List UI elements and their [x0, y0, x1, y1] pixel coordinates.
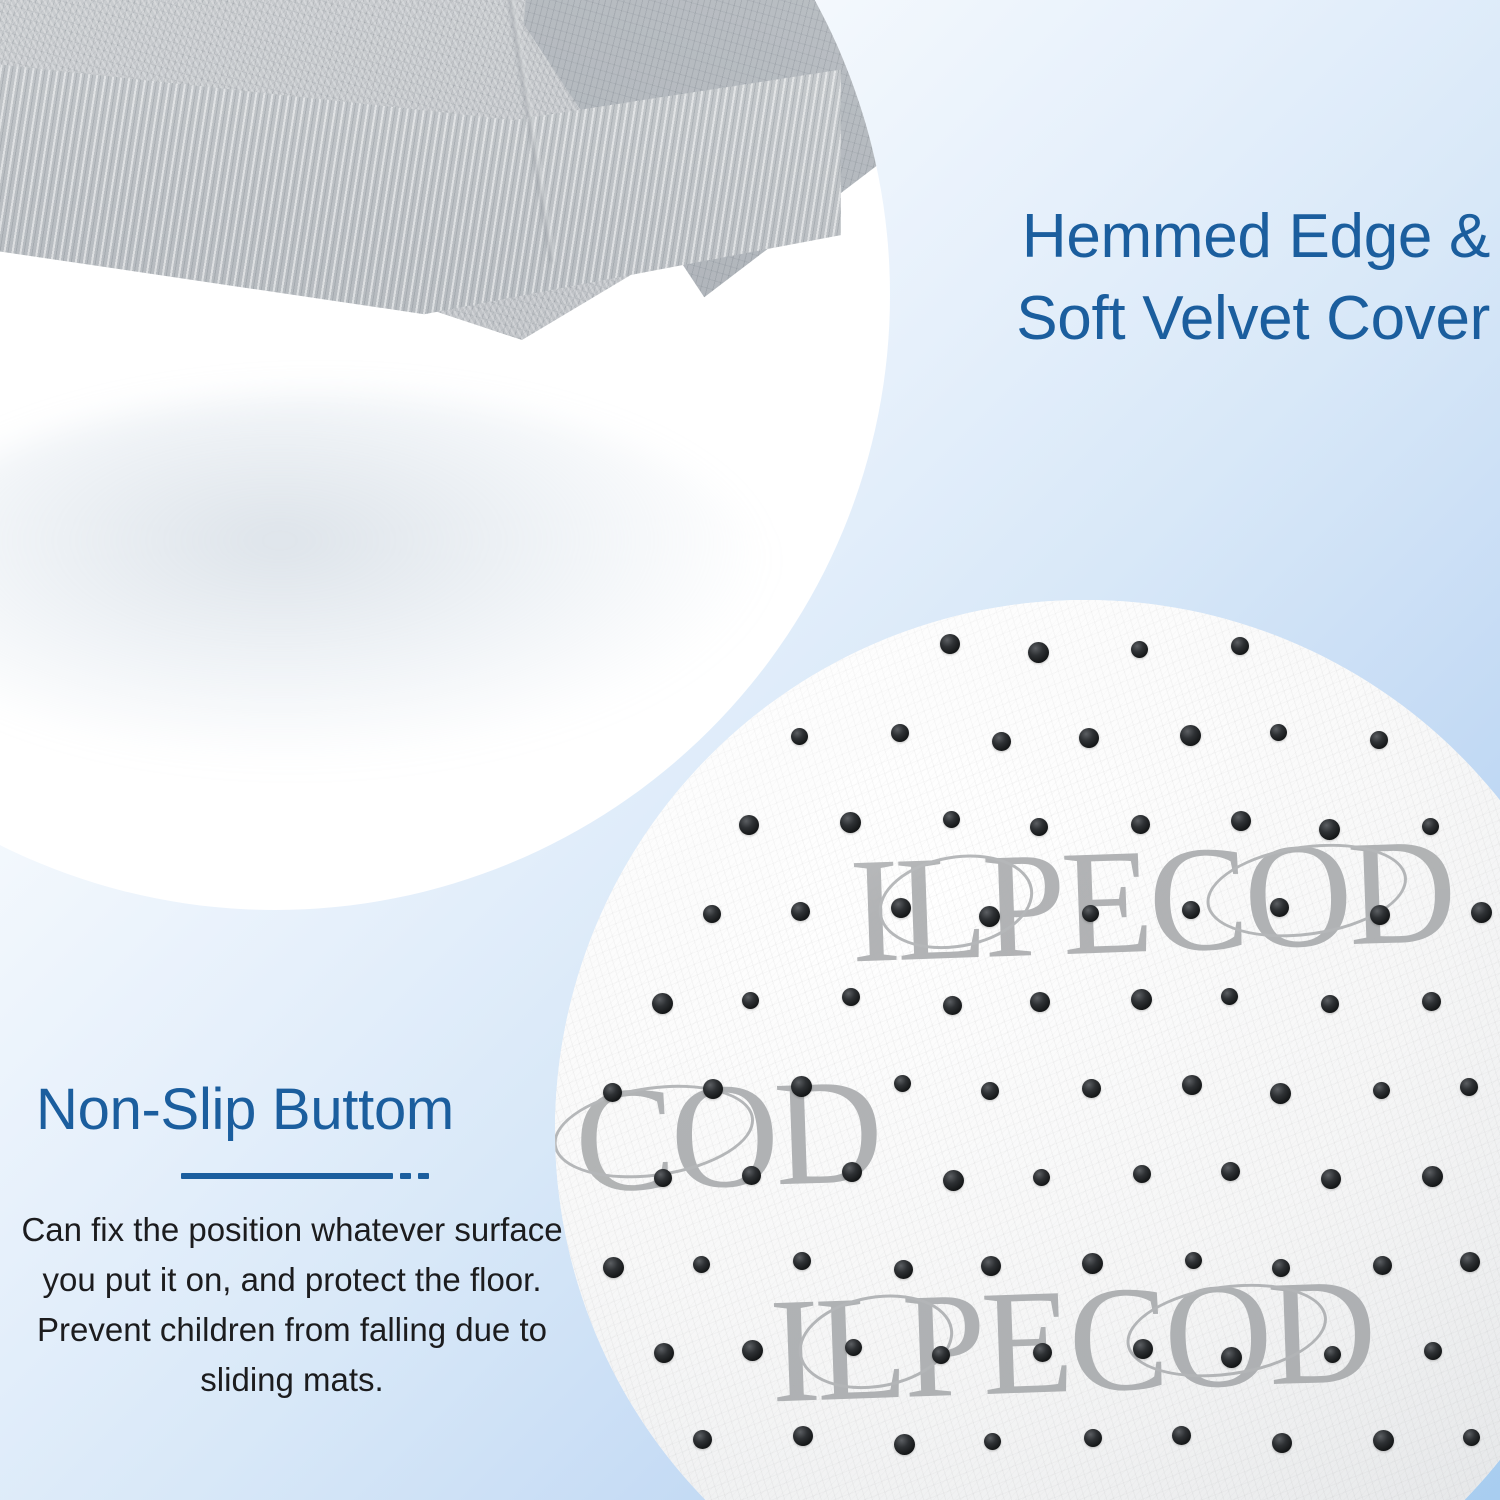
anti-slip-dot: [1033, 1343, 1052, 1362]
anti-slip-dot: [1221, 1162, 1240, 1181]
anti-slip-dot: [984, 1433, 1001, 1450]
anti-slip-dot: [1028, 642, 1049, 663]
anti-slip-dot: [1079, 728, 1099, 748]
anti-slip-dot: [1131, 989, 1152, 1010]
anti-slip-dot: [1033, 1169, 1050, 1186]
anti-slip-dot: [791, 728, 808, 745]
hemmed-edge-heading: Hemmed Edge & Soft Velvet Cover: [945, 196, 1490, 361]
heading-line-2: Soft Velvet Cover: [945, 278, 1490, 360]
anti-slip-dot: [1422, 818, 1439, 835]
anti-slip-dot: [1082, 1079, 1101, 1098]
anti-slip-dot: [1221, 1347, 1242, 1368]
divider-dash: [418, 1173, 429, 1179]
heading-line-1: Hemmed Edge &: [945, 196, 1490, 278]
velvet-cushion: [0, 0, 841, 541]
anti-slip-dot: [891, 724, 909, 742]
anti-slip-dot: [1272, 1433, 1292, 1453]
anti-slip-dot: [654, 1169, 672, 1187]
anti-slip-dot: [1084, 1429, 1102, 1447]
anti-slip-dot: [840, 812, 861, 833]
anti-slip-dot: [992, 732, 1011, 751]
anti-slip-dot: [603, 1083, 622, 1102]
anti-slip-dot: [943, 1170, 964, 1191]
anti-slip-dot: [793, 1426, 813, 1446]
description-line-3: Prevent children from falling due to: [18, 1305, 566, 1355]
anti-slip-dot: [1373, 1256, 1392, 1275]
anti-slip-dot: [842, 988, 860, 1006]
divider-dash: [400, 1173, 411, 1179]
description-line-4: sliding mats.: [18, 1355, 566, 1405]
anti-slip-dot: [742, 1340, 763, 1361]
anti-slip-dot: [703, 905, 721, 923]
anti-slip-dot: [1424, 1342, 1442, 1360]
anti-slip-dot: [703, 1079, 723, 1099]
anti-slip-dot: [1172, 1426, 1191, 1445]
anti-slip-dot: [932, 1346, 950, 1364]
anti-slip-dot: [1370, 905, 1390, 925]
non-slip-bottom-photo: ILPECOD COD ILPECOD: [555, 600, 1500, 1500]
anti-slip-dot: [1270, 898, 1289, 917]
anti-slip-dot: [1270, 1083, 1291, 1104]
anti-slip-dot: [603, 1257, 624, 1278]
anti-slip-dot: [652, 993, 673, 1014]
anti-slip-dot: [654, 1343, 674, 1363]
anti-slip-dot: [693, 1256, 710, 1273]
anti-slip-dot: [1321, 995, 1339, 1013]
anti-slip-dot: [1460, 1252, 1480, 1272]
anti-slip-dot: [1180, 725, 1201, 746]
anti-slip-dot: [981, 1256, 1001, 1276]
anti-slip-dot: [1471, 902, 1492, 923]
anti-slip-dot: [1131, 815, 1150, 834]
anti-slip-dot: [739, 815, 759, 835]
anti-slip-dot: [979, 906, 1000, 927]
anti-slip-dot: [1370, 731, 1388, 749]
anti-slip-dot: [894, 1075, 911, 1092]
anti-slip-dot: [943, 996, 962, 1015]
anti-slip-dot: [1133, 1165, 1151, 1183]
non-slip-description: Can fix the position whatever surface yo…: [18, 1205, 566, 1406]
anti-slip-dot: [1082, 1253, 1103, 1274]
anti-slip-dot: [1030, 818, 1048, 836]
anti-slip-dot: [1321, 1169, 1341, 1189]
non-slip-heading: Non-Slip Buttom: [18, 1078, 566, 1143]
anti-slip-dot: [891, 898, 911, 918]
anti-slip-dot: [943, 811, 960, 828]
anti-slip-dot: [940, 634, 960, 654]
anti-slip-dot: [791, 1076, 812, 1097]
divider-line: [181, 1173, 393, 1179]
anti-slip-dot: [845, 1339, 862, 1356]
anti-slip-dot: [1185, 1252, 1202, 1269]
anti-slip-dot: [1460, 1078, 1478, 1096]
anti-slip-dot: [1221, 988, 1238, 1005]
anti-slip-dot: [742, 992, 759, 1009]
anti-slip-dot: [842, 1162, 862, 1182]
anti-slip-dot: [793, 1252, 811, 1270]
anti-slip-dot: [1373, 1082, 1390, 1099]
anti-slip-dot-grid: [555, 600, 1500, 1500]
anti-slip-dot: [1131, 641, 1148, 658]
description-line-1: Can fix the position whatever surface: [18, 1205, 566, 1255]
anti-slip-dot: [1231, 637, 1249, 655]
anti-slip-dot: [1319, 819, 1340, 840]
description-line-2: you put it on, and protect the floor.: [18, 1255, 566, 1305]
anti-slip-dot: [1231, 811, 1251, 831]
anti-slip-dot: [894, 1260, 913, 1279]
anti-slip-dot: [1133, 1339, 1153, 1359]
anti-slip-dot: [1324, 1346, 1341, 1363]
heading-divider: [18, 1173, 566, 1179]
product-feature-graphic: ILPECOD COD ILPECOD Hemmed Edge & Soft V…: [0, 0, 1500, 1500]
anti-slip-dot: [1082, 905, 1099, 922]
anti-slip-dot: [1030, 992, 1050, 1012]
anti-slip-dot: [1422, 1166, 1443, 1187]
anti-slip-dot: [1272, 1259, 1290, 1277]
non-slip-text-block: Non-Slip Buttom Can fix the position wha…: [18, 1078, 566, 1406]
anti-slip-dot: [981, 1082, 999, 1100]
anti-slip-dot: [791, 902, 810, 921]
anti-slip-dot: [894, 1434, 915, 1455]
anti-slip-dot: [1182, 901, 1200, 919]
anti-slip-dot: [1422, 992, 1441, 1011]
anti-slip-dot: [693, 1430, 712, 1449]
anti-slip-dot: [1463, 1429, 1480, 1446]
anti-slip-dot: [742, 1166, 761, 1185]
anti-slip-dot: [1270, 724, 1287, 741]
anti-slip-dot: [1182, 1075, 1202, 1095]
anti-slip-dot: [1373, 1430, 1394, 1451]
